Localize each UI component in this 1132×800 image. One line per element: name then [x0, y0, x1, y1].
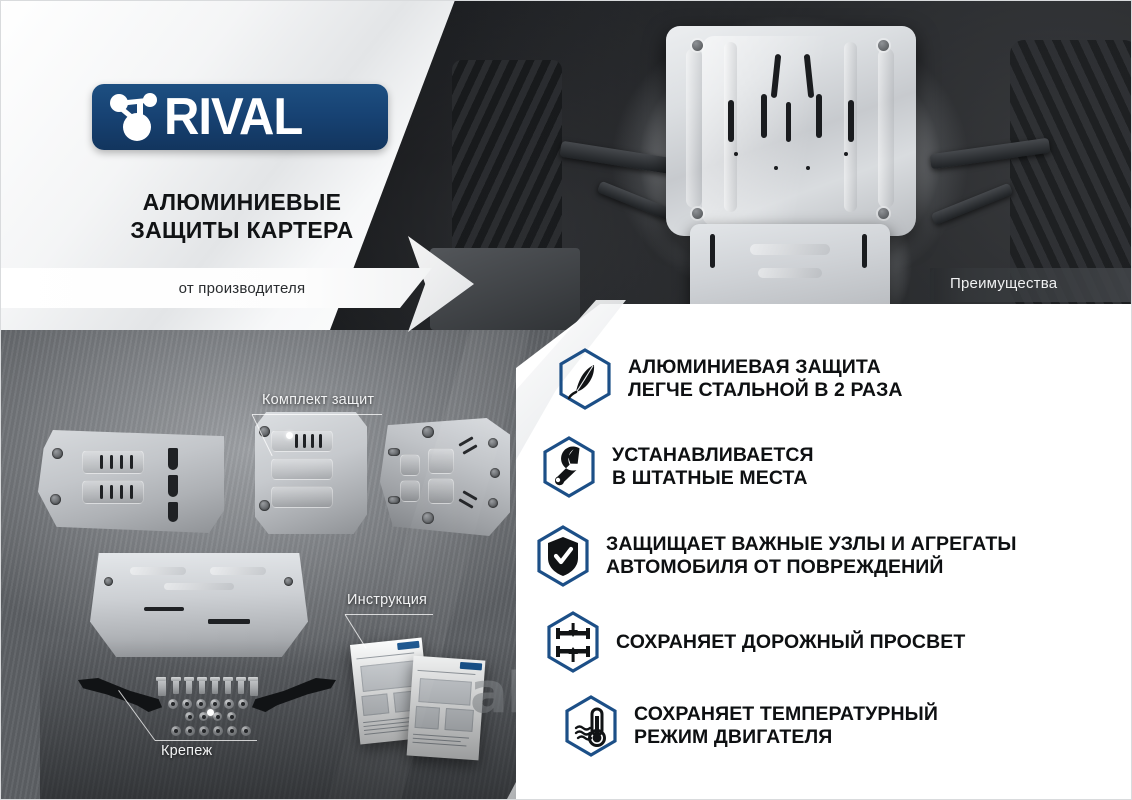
benefit-label: АЛЮМИНИЕВАЯ ЗАЩИТА ЛЕГЧЕ СТАЛЬНОЙ В 2 РА…	[628, 356, 903, 402]
benefit-item-temperature: СОХРАНЯЕТ ТЕМПЕРАТУРНЫЙ РЕЖИМ ДВИГАТЕЛЯ	[562, 684, 1116, 768]
benefit-label: СОХРАНЯЕТ ДОРОЖНЫЙ ПРОСВЕТ	[616, 631, 965, 654]
subtitle-text: от производителя	[92, 280, 392, 297]
benefit-label: УСТАНАВЛИВАЕТСЯ В ШТАТНЫЕ МЕСТА	[612, 444, 814, 490]
installed-skid-plate	[666, 26, 916, 236]
callout-kit: Комплект защит	[262, 392, 374, 408]
benefit-item-clearance: СОХРАНЯЕТ ДОРОЖНЫЙ ПРОСВЕТ	[544, 600, 1116, 684]
callout-hardware-underline	[155, 740, 257, 741]
headline-line-1: АЛЮМИНИЕВЫЕ	[92, 188, 392, 216]
wrench-icon	[540, 435, 598, 499]
skid-plate-part-large	[38, 430, 224, 533]
thermometer-icon	[562, 694, 620, 758]
skid-plate-part-medium	[255, 412, 367, 534]
molecule-icon	[104, 89, 166, 145]
callout-kit-dot	[286, 432, 293, 439]
callout-kit-underline	[252, 414, 382, 415]
benefit-item-fitment: УСТАНАВЛИВАЕТСЯ В ШТАТНЫЕ МЕСТА	[540, 422, 1116, 512]
benefit-item-weight: АЛЮМИНИЕВАЯ ЗАЩИТА ЛЕГЧЕ СТАЛЬНОЙ В 2 РА…	[556, 336, 1116, 422]
callout-instruction: Инструкция	[347, 592, 427, 608]
benefit-label: СОХРАНЯЕТ ТЕМПЕРАТУРНЫЙ РЕЖИМ ДВИГАТЕЛЯ	[634, 703, 938, 749]
page-title: АЛЮМИНИЕВЫЕ ЗАЩИТЫ КАРТЕРА	[92, 188, 392, 244]
headline-line-2: ЗАЩИТЫ КАРТЕРА	[92, 216, 392, 244]
tie-rod-right	[931, 183, 1013, 226]
logo-wordmark: RIVAL	[164, 91, 302, 143]
benefits-list: АЛЮМИНИЕВАЯ ЗАЩИТА ЛЕГЧЕ СТАЛЬНОЙ В 2 РА…	[556, 336, 1116, 768]
suspension-arm-left	[559, 141, 680, 176]
callout-hardware-dot	[207, 709, 214, 716]
callout-hardware: Крепеж	[161, 743, 212, 759]
advantages-label: Преимущества	[950, 275, 1057, 292]
benefit-item-protection: ЗАЩИЩАЕТ ВАЖНЫЕ УЗЛЫ И АГРЕГАТЫ АВТОМОБИ…	[534, 512, 1116, 600]
benefit-label: ЗАЩИЩАЕТ ВАЖНЫЕ УЗЛЫ И АГРЕГАТЫ АВТОМОБИ…	[606, 533, 1017, 579]
callout-instruction-underline	[345, 614, 433, 615]
ground-clearance-icon	[544, 610, 602, 674]
advantages-band: Преимущества	[930, 268, 1132, 302]
rival-logo: RIVAL	[92, 84, 388, 150]
leaf-icon	[556, 347, 614, 411]
shield-check-icon	[534, 524, 592, 588]
poster-canvas: abcp.ru RIVAL АЛЮМИНИЕВЫЕ ЗАЩИТЫ КАРТЕРА…	[0, 0, 1132, 800]
